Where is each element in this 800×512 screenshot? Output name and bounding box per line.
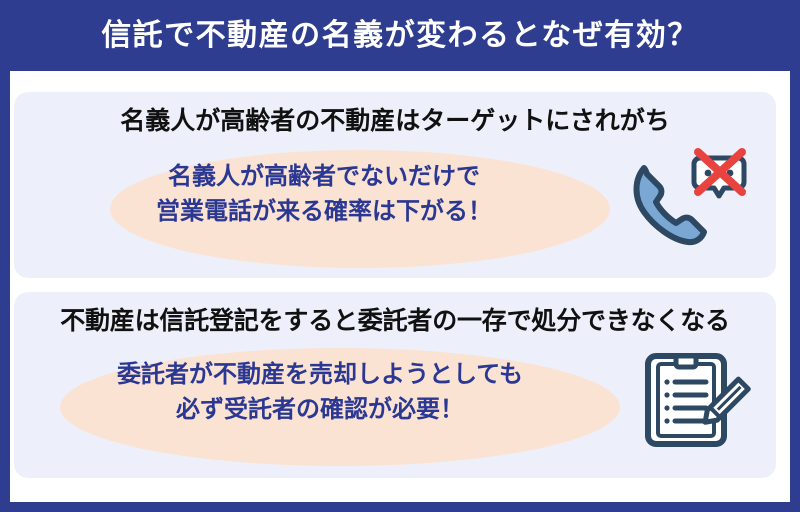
card-1-body-line-1: 名義人が高齢者でないだけで: [14, 160, 634, 195]
card-1-heading: 名義人が高齢者の不動産はターゲットにされがち: [14, 108, 776, 136]
info-card-2: 不動産は信託登記をすると委託者の一存で処分できなくなる 委託者が不動産を売却しよ…: [14, 292, 776, 478]
card-2-body-line-2: 必ず受託者の確認が必要！: [14, 393, 626, 428]
header-bar: 信託で不動産の名義が変わるとなぜ有効？: [0, 0, 800, 71]
content-panel: 名義人が高齢者の不動産はターゲットにされがち 名義人が高齢者でないだけで 営業電…: [10, 71, 790, 502]
clipboard-checklist-pencil-icon: [632, 344, 762, 456]
card-2-body-line-1: 委託者が不動産を売却しようとしても: [14, 358, 626, 393]
card-2-heading: 不動産は信託登記をすると委託者の一存で処分できなくなる: [14, 308, 776, 336]
phone-no-call-icon: [626, 144, 756, 256]
infographic-root: 信託で不動産の名義が変わるとなぜ有効？ 名義人が高齢者の不動産はターゲットにされ…: [0, 0, 800, 512]
info-card-1: 名義人が高齢者の不動産はターゲットにされがち 名義人が高齢者でないだけで 営業電…: [14, 92, 776, 278]
card-1-body: 名義人が高齢者でないだけで 営業電話が来る確率は下がる！: [14, 160, 634, 230]
page-title: 信託で不動産の名義が変わるとなぜ有効？: [101, 21, 699, 51]
card-2-body: 委託者が不動産を売却しようとしても 必ず受託者の確認が必要！: [14, 358, 626, 428]
card-1-body-line-2: 営業電話が来る確率は下がる！: [14, 195, 634, 230]
